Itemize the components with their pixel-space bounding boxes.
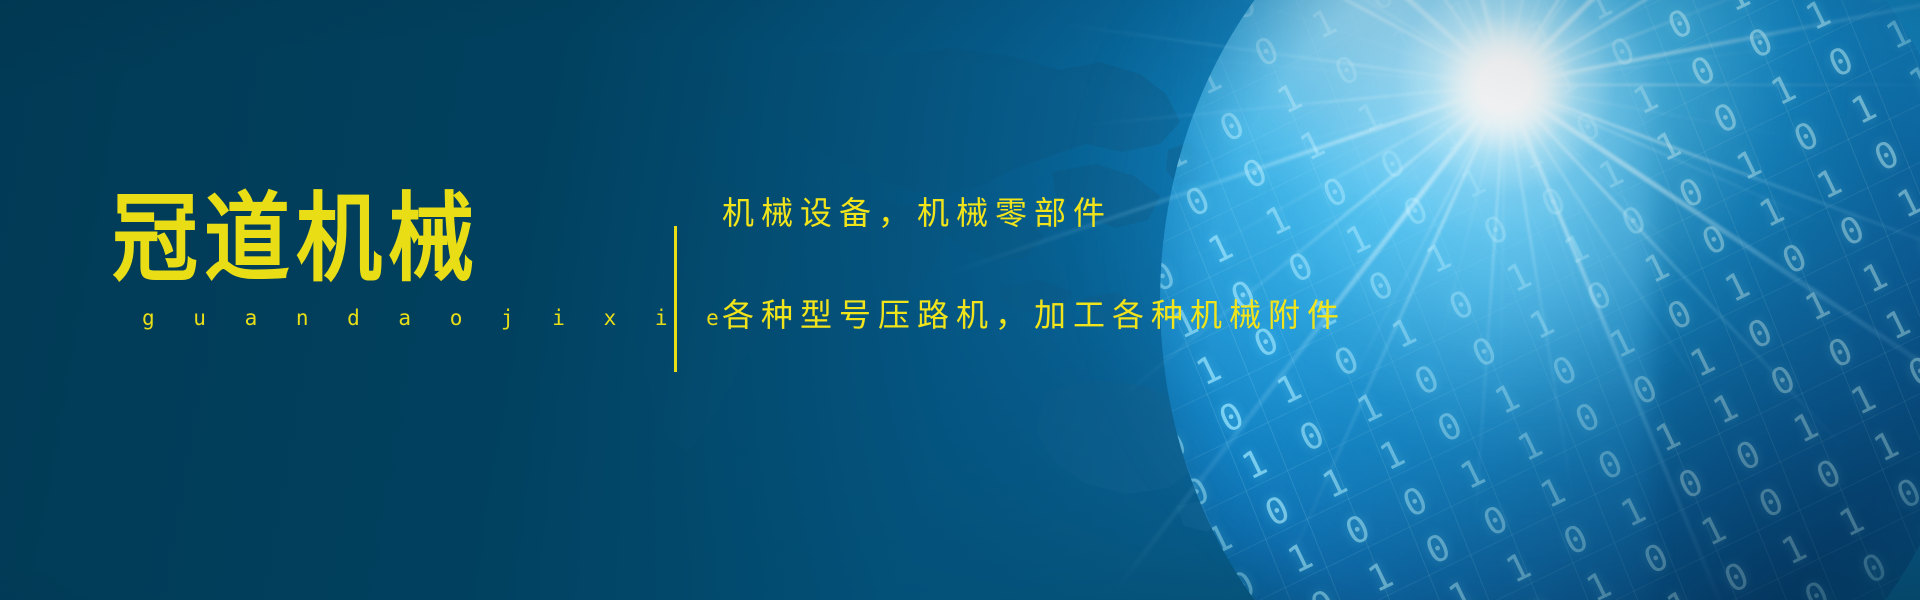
tagline-line-1: 机械设备，机械零部件 <box>722 188 1346 234</box>
tagline-group: 机械设备，机械零部件 各种型号压路机，加工各种机械附件 <box>722 188 1346 336</box>
logo-title-pinyin: g u a n d a o j i x i e <box>112 306 582 330</box>
tagline-line-2: 各种型号压路机，加工各种机械附件 <box>722 290 1346 336</box>
vertical-divider <box>674 226 677 372</box>
hero-banner: 0 1 0 0 1 0 1 1 0 0 1 0 0 1 0 1 0 0 1 1 … <box>0 0 1920 600</box>
logo-block[interactable]: 冠道机械 g u a n d a o j i x i e <box>112 186 582 330</box>
banner-content: 冠道机械 g u a n d a o j i x i e 机械设备，机械零部件 … <box>0 0 1920 600</box>
logo-title-cn: 冠道机械 <box>112 186 582 294</box>
